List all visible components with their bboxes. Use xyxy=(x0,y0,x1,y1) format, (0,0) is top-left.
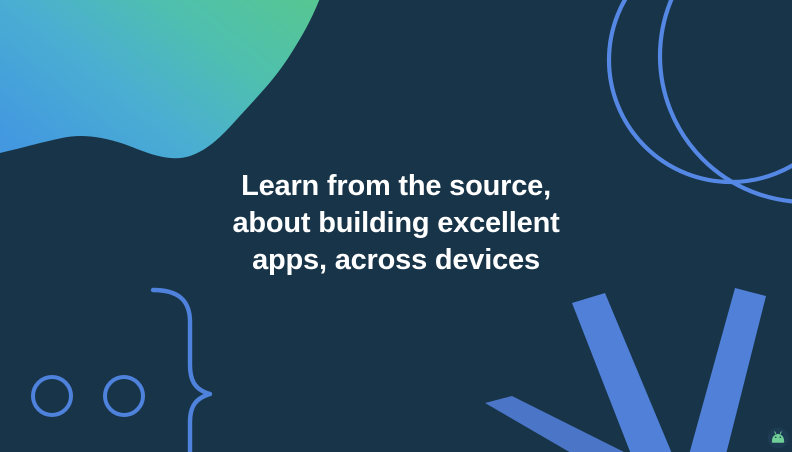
headline-line-3: apps, across devices xyxy=(0,242,792,279)
android-bot-badge xyxy=(767,427,789,449)
page-title: Learn from the source, about building ex… xyxy=(0,168,792,279)
headline-line-1: Learn from the source, xyxy=(0,168,792,205)
slide-canvas: Learn from the source, about building ex… xyxy=(0,0,792,452)
headline-line-2: about building excellent xyxy=(0,205,792,242)
